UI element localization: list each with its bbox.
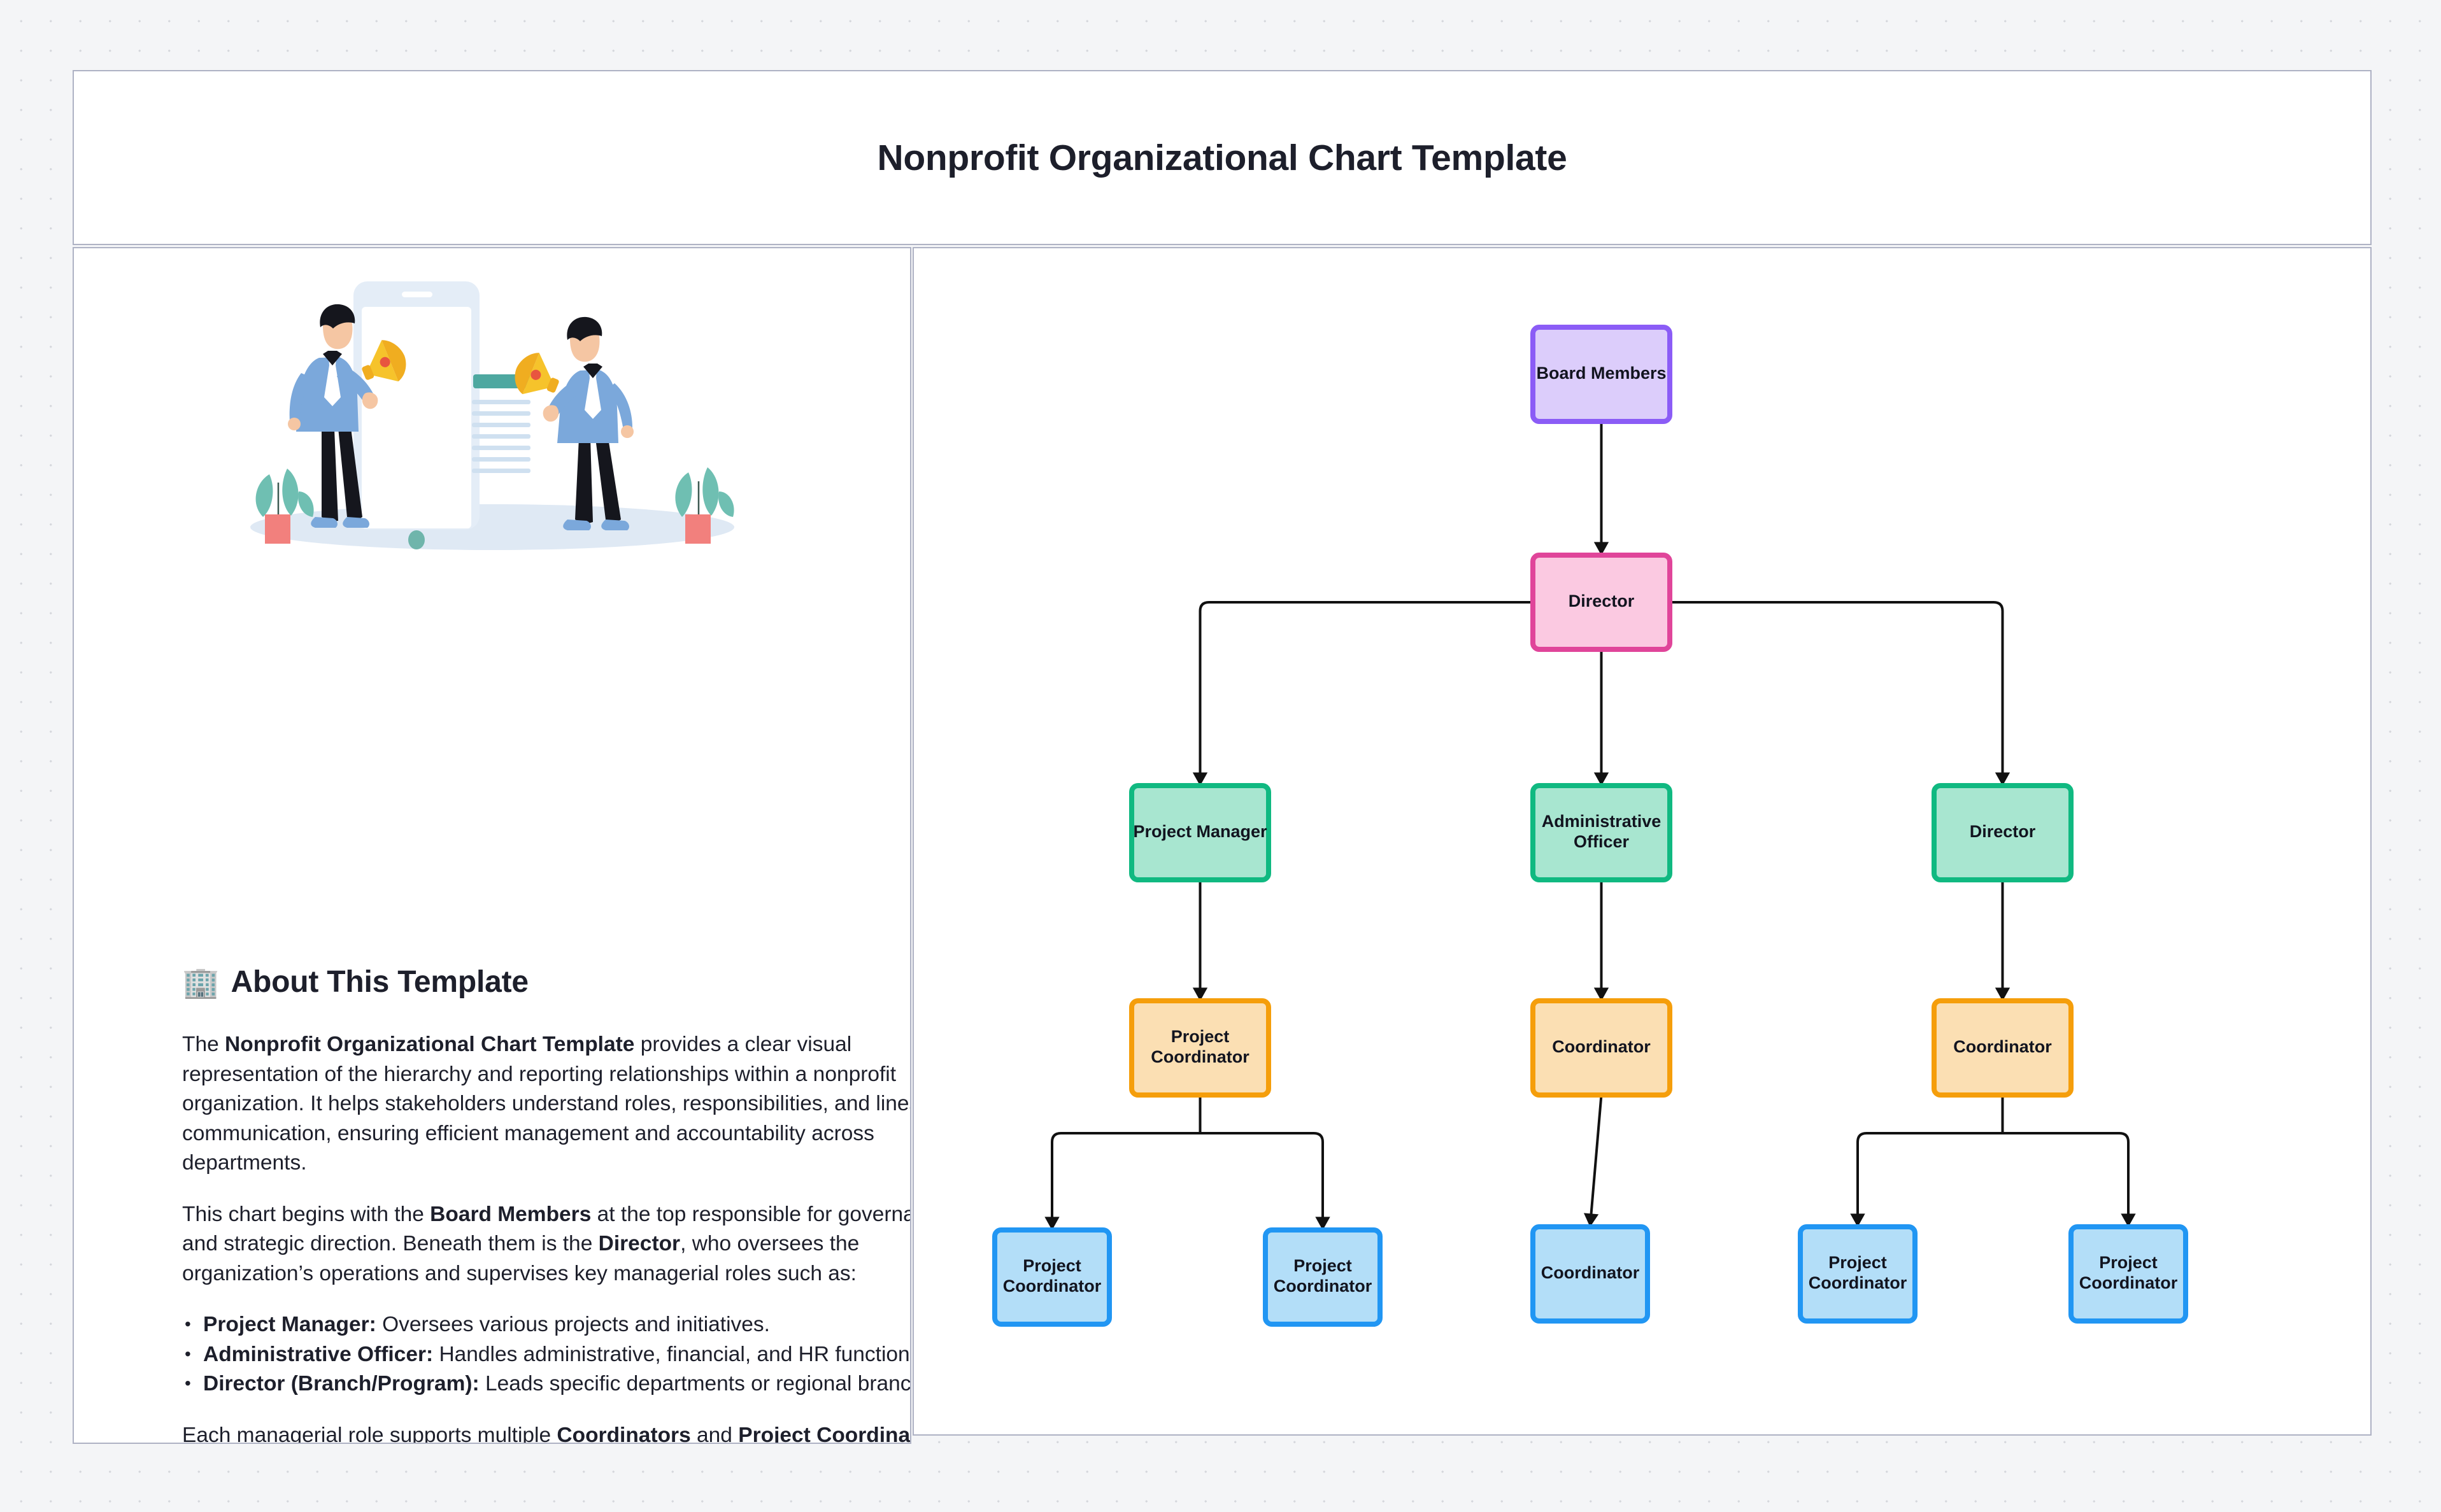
node-label: Project Manager <box>1133 822 1267 841</box>
connector-line <box>1670 602 2003 784</box>
node-label: Coordinator <box>1541 1263 1640 1282</box>
para1-pre: The <box>182 1033 225 1056</box>
connector-line <box>1200 1133 1323 1229</box>
about-panel: 🏢 About This Template The Nonprofit Orga… <box>73 247 911 1444</box>
node-label: Director <box>1569 591 1635 611</box>
para2-pre: This chart begins with the <box>182 1203 430 1226</box>
connector-line <box>1590 1095 1602 1226</box>
org-node-pc1[interactable]: ProjectCoordinator <box>1132 1001 1269 1095</box>
para3-bold-1: Coordinators <box>557 1424 690 1445</box>
about-title: About This Template <box>231 964 529 1000</box>
node-label: Coordinator <box>1953 1037 2052 1056</box>
para3-bold-2: Project Coordinators <box>738 1424 911 1445</box>
node-label: Director <box>1970 822 2036 841</box>
bullet-term: Project Manager: <box>203 1313 376 1336</box>
org-node-ao[interactable]: AdministrativeOfficer <box>1533 786 1670 880</box>
node-label: Coordinator <box>1552 1037 1651 1056</box>
list-item: Project Manager: Oversees various projec… <box>182 1310 911 1340</box>
about-paragraph-3: Each managerial role supports multiple C… <box>182 1421 911 1445</box>
org-node-dir2[interactable]: Director <box>1934 786 2071 880</box>
header-panel: Nonprofit Organizational Chart Template <box>73 70 2372 245</box>
org-node-bpc4[interactable]: ProjectCoordinator <box>2071 1227 2186 1321</box>
org-node-co1[interactable]: Coordinator <box>1533 1001 1670 1095</box>
list-item: Director (Branch/Program): Leads specifi… <box>182 1369 911 1399</box>
list-item: Administrative Officer: Handles administ… <box>182 1340 911 1370</box>
role-bullet-list: Project Manager: Oversees various projec… <box>182 1310 911 1399</box>
illustration-container <box>74 267 910 567</box>
two-people-with-megaphones-illustration <box>174 267 811 567</box>
connector-line <box>1052 1133 1200 1229</box>
org-node-bpc2[interactable]: ProjectCoordinator <box>1265 1230 1380 1324</box>
bullet-desc: Handles administrative, financial, and H… <box>433 1343 911 1366</box>
about-paragraph-1: The Nonprofit Organizational Chart Templ… <box>182 1030 911 1178</box>
para2-bold-1: Board Members <box>430 1203 591 1226</box>
node-label: Board Members <box>1536 364 1666 383</box>
org-node-co2[interactable]: Coordinator <box>1934 1001 2071 1095</box>
para1-bold: Nonprofit Organizational Chart Template <box>225 1033 634 1056</box>
org-chart-svg: Board MembersDirectorProject ManagerAdmi… <box>914 248 2372 1436</box>
about-heading: 🏢 About This Template <box>182 964 911 1000</box>
para3-pre: Each managerial role supports multiple <box>182 1424 557 1445</box>
org-node-bco[interactable]: Coordinator <box>1533 1227 1647 1321</box>
org-nodes: Board MembersDirectorProject ManagerAdmi… <box>995 327 2186 1324</box>
org-node-dir[interactable]: Director <box>1533 555 1670 649</box>
bullet-term: Director (Branch/Program): <box>203 1372 480 1395</box>
connector-line <box>2003 1133 2129 1226</box>
connector-line <box>1200 602 1534 784</box>
org-node-bpc1[interactable]: ProjectCoordinator <box>995 1230 1109 1324</box>
para3-mid: and <box>691 1424 739 1445</box>
office-building-icon: 🏢 <box>182 967 220 997</box>
about-section: 🏢 About This Template The Nonprofit Orga… <box>182 964 911 1444</box>
about-paragraph-2: This chart begins with the Board Members… <box>182 1200 911 1289</box>
page-title: Nonprofit Organizational Chart Template <box>878 137 1567 179</box>
para2-bold-2: Director <box>599 1232 680 1255</box>
org-node-pm[interactable]: Project Manager <box>1132 786 1269 880</box>
bullet-desc: Oversees various projects and initiative… <box>376 1313 770 1336</box>
bullet-desc: Leads specific departments or regional b… <box>480 1372 911 1395</box>
bullet-term: Administrative Officer: <box>203 1343 433 1366</box>
org-node-board[interactable]: Board Members <box>1533 327 1670 421</box>
connector-line <box>1858 1133 2003 1226</box>
org-node-bpc3[interactable]: ProjectCoordinator <box>1800 1227 1915 1321</box>
org-chart-panel: Board MembersDirectorProject ManagerAdmi… <box>913 247 2372 1436</box>
